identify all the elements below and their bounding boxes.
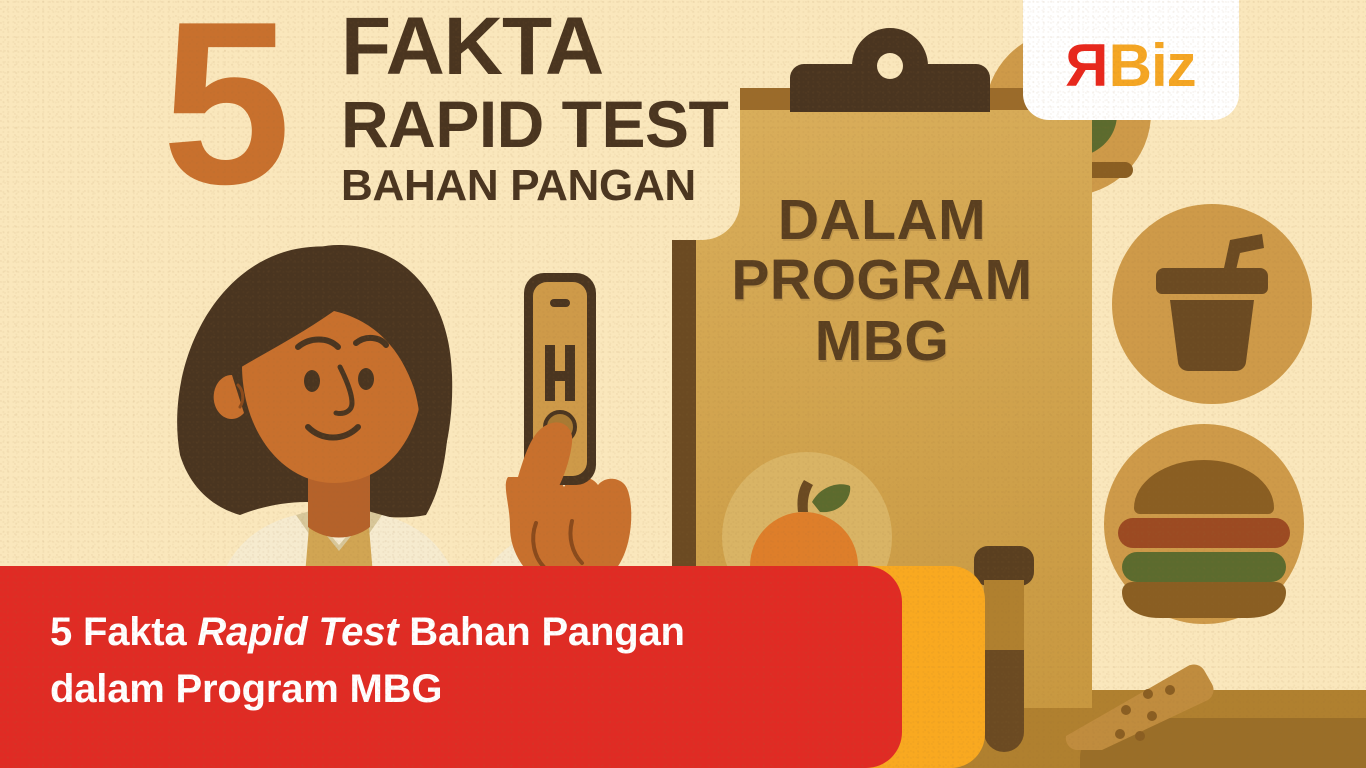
brand-logo-text: RBiz [1066,36,1195,96]
banner-line-2: dalam Program MBG [50,661,860,718]
banner-line-1-suffix: Bahan Pangan [398,610,684,654]
headline-line-1: FAKTA [341,8,728,87]
poster-canvas: 5 FAKTA RAPID TEST BAHAN PANGAN DALAM PR… [0,0,1366,768]
clipboard-line-3: MBG [672,311,1092,371]
headline-number: 5 [162,0,285,220]
clipboard-line-2: PROGRAM [672,250,1092,310]
headline-line-3: BAHAN PANGAN [341,164,728,208]
banner-line-1-italic: Rapid Test [197,610,398,654]
headline-block: FAKTA RAPID TEST BAHAN PANGAN [341,8,728,208]
headline-line-2: RAPID TEST [341,91,728,158]
drink-cup-icon [1112,204,1312,404]
clipboard-clip-icon [790,20,990,112]
banner-line-1: 5 Fakta Rapid Test Bahan Pangan [50,604,860,661]
brand-logo-card: RBiz [1023,0,1239,120]
cracker-icon [1040,640,1250,750]
burger-icon [1104,424,1304,624]
logo-word: Biz [1109,36,1196,96]
drink-cup-icon-circle [1112,204,1312,404]
banner-text-block: 5 Fakta Rapid Test Bahan Pangan dalam Pr… [50,604,860,718]
burger-icon-circle [1104,424,1304,624]
logo-r-mark: R [1066,36,1108,96]
banner-line-1-prefix: 5 Fakta [50,610,197,654]
